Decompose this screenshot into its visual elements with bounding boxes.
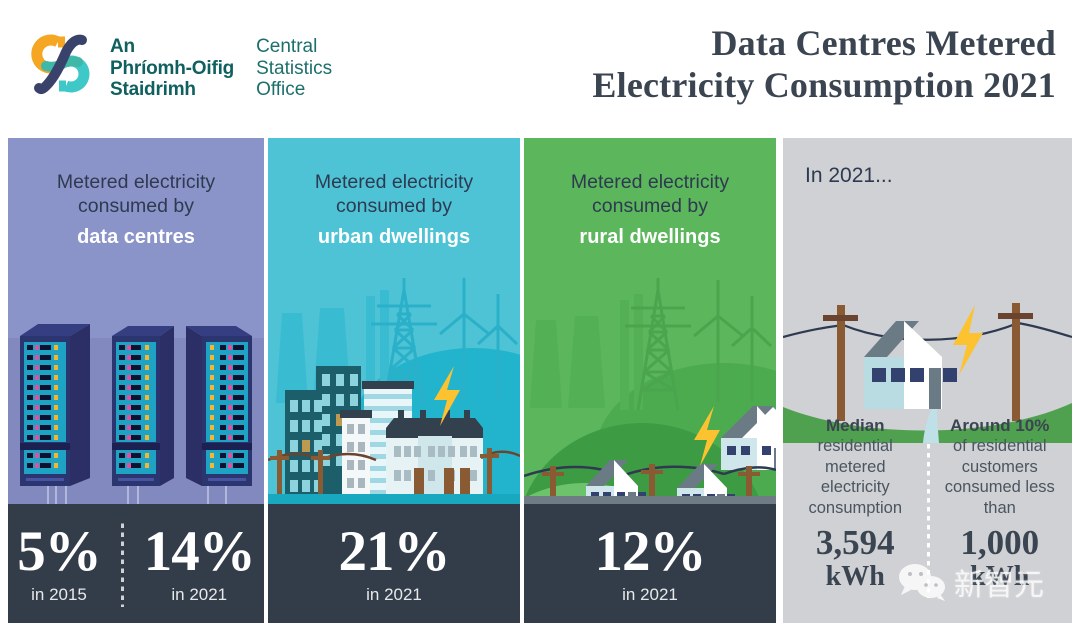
summary-right-unit: kWh: [936, 562, 1065, 592]
panel-footer-rural-dwellings: 12% in 2021: [524, 504, 776, 623]
stat-value: 12%: [595, 523, 706, 581]
page-title: Data Centres Metered Electricity Consump…: [416, 22, 1056, 106]
stat-label: in 2021: [339, 585, 450, 605]
panel-heading-line-1: Metered electricity: [57, 171, 215, 193]
panel-data-centres: Metered electricity consumed by data cen…: [8, 138, 264, 623]
summary-intro: In 2021...: [805, 164, 893, 188]
logo-irish-line-3: Staidrimh: [110, 79, 234, 101]
panel-heading-line-1: Metered electricity: [571, 171, 729, 193]
page-title-line-1: Data Centres Metered: [416, 22, 1056, 64]
stat-value: 14%: [144, 523, 255, 581]
summary-left-lead: Median: [791, 415, 920, 436]
panel-heading-bold: urban dwellings: [268, 225, 520, 249]
logo-english-line-1: Central: [256, 36, 332, 58]
panel-heading-bold: rural dwellings: [524, 225, 776, 249]
infographic-page: An Phríomh-Oifig Staidrimh Central Stati…: [0, 0, 1080, 631]
panel-urban-dwellings: Metered electricity consumed by urban dw…: [268, 138, 520, 623]
stat-2015: 5% in 2015: [11, 523, 107, 605]
panel-footer-urban-dwellings: 21% in 2021: [268, 504, 520, 623]
stat-2021: 21% in 2021: [333, 523, 456, 605]
stat-2021: 12% in 2021: [589, 523, 712, 605]
cso-spiral-logo-icon: [24, 22, 100, 106]
header: An Phríomh-Oifig Staidrimh Central Stati…: [0, 0, 1080, 130]
summary-right-body: of residential customers consumed less t…: [936, 436, 1065, 518]
panel-heading-data-centres: Metered electricity consumed by data cen…: [8, 138, 264, 249]
panel-heading-line-2: consumed by: [336, 195, 452, 217]
panels-row: Metered electricity consumed by data cen…: [0, 138, 1080, 623]
summary-left-unit: kWh: [791, 562, 920, 592]
logo-english-text: Central Statistics Office: [256, 36, 332, 101]
panel-heading-line-2: consumed by: [592, 195, 708, 217]
summary-stats: Median residential metered electricity c…: [783, 415, 1072, 615]
logo-irish-line-1: An: [110, 36, 234, 58]
stat-divider: [121, 521, 124, 607]
panel-heading-rural-dwellings: Metered electricity consumed by rural dw…: [524, 138, 776, 249]
stat-value: 21%: [339, 523, 450, 581]
panel-summary: In 2021...: [783, 138, 1072, 623]
panel-footer-data-centres: 5% in 2015 14% in 2021: [8, 504, 264, 623]
stat-value: 5%: [17, 523, 101, 581]
page-title-line-2: Electricity Consumption 2021: [416, 64, 1056, 106]
summary-right-lead: Around 10%: [936, 415, 1065, 436]
logo-irish-line-2: Phríomh-Oifig: [110, 58, 234, 80]
stat-label: in 2015: [17, 585, 101, 605]
logo-english-line-2: Statistics: [256, 58, 332, 80]
panel-heading-line-1: Metered electricity: [315, 171, 473, 193]
logo-irish-text: An Phríomh-Oifig Staidrimh: [110, 36, 234, 101]
cso-logo: An Phríomh-Oifig Staidrimh Central Stati…: [24, 22, 332, 106]
summary-left: Median residential metered electricity c…: [783, 415, 928, 592]
stat-2021: 14% in 2021: [138, 523, 261, 605]
panel-heading-urban-dwellings: Metered electricity consumed by urban dw…: [268, 138, 520, 249]
panel-heading-line-2: consumed by: [78, 195, 194, 217]
summary-left-body: residential metered electricity consumpt…: [791, 436, 920, 518]
summary-right: Around 10% of residential customers cons…: [928, 415, 1073, 592]
panel-rural-dwellings: Metered electricity consumed by rural dw…: [524, 138, 776, 623]
stat-label: in 2021: [144, 585, 255, 605]
summary-right-number: 1,000: [936, 524, 1065, 562]
summary-left-number: 3,594: [791, 524, 920, 562]
house-power-lines-illustration: [783, 193, 1072, 443]
stat-label: in 2021: [595, 585, 706, 605]
panel-heading-bold: data centres: [8, 225, 264, 249]
logo-english-line-3: Office: [256, 79, 332, 101]
